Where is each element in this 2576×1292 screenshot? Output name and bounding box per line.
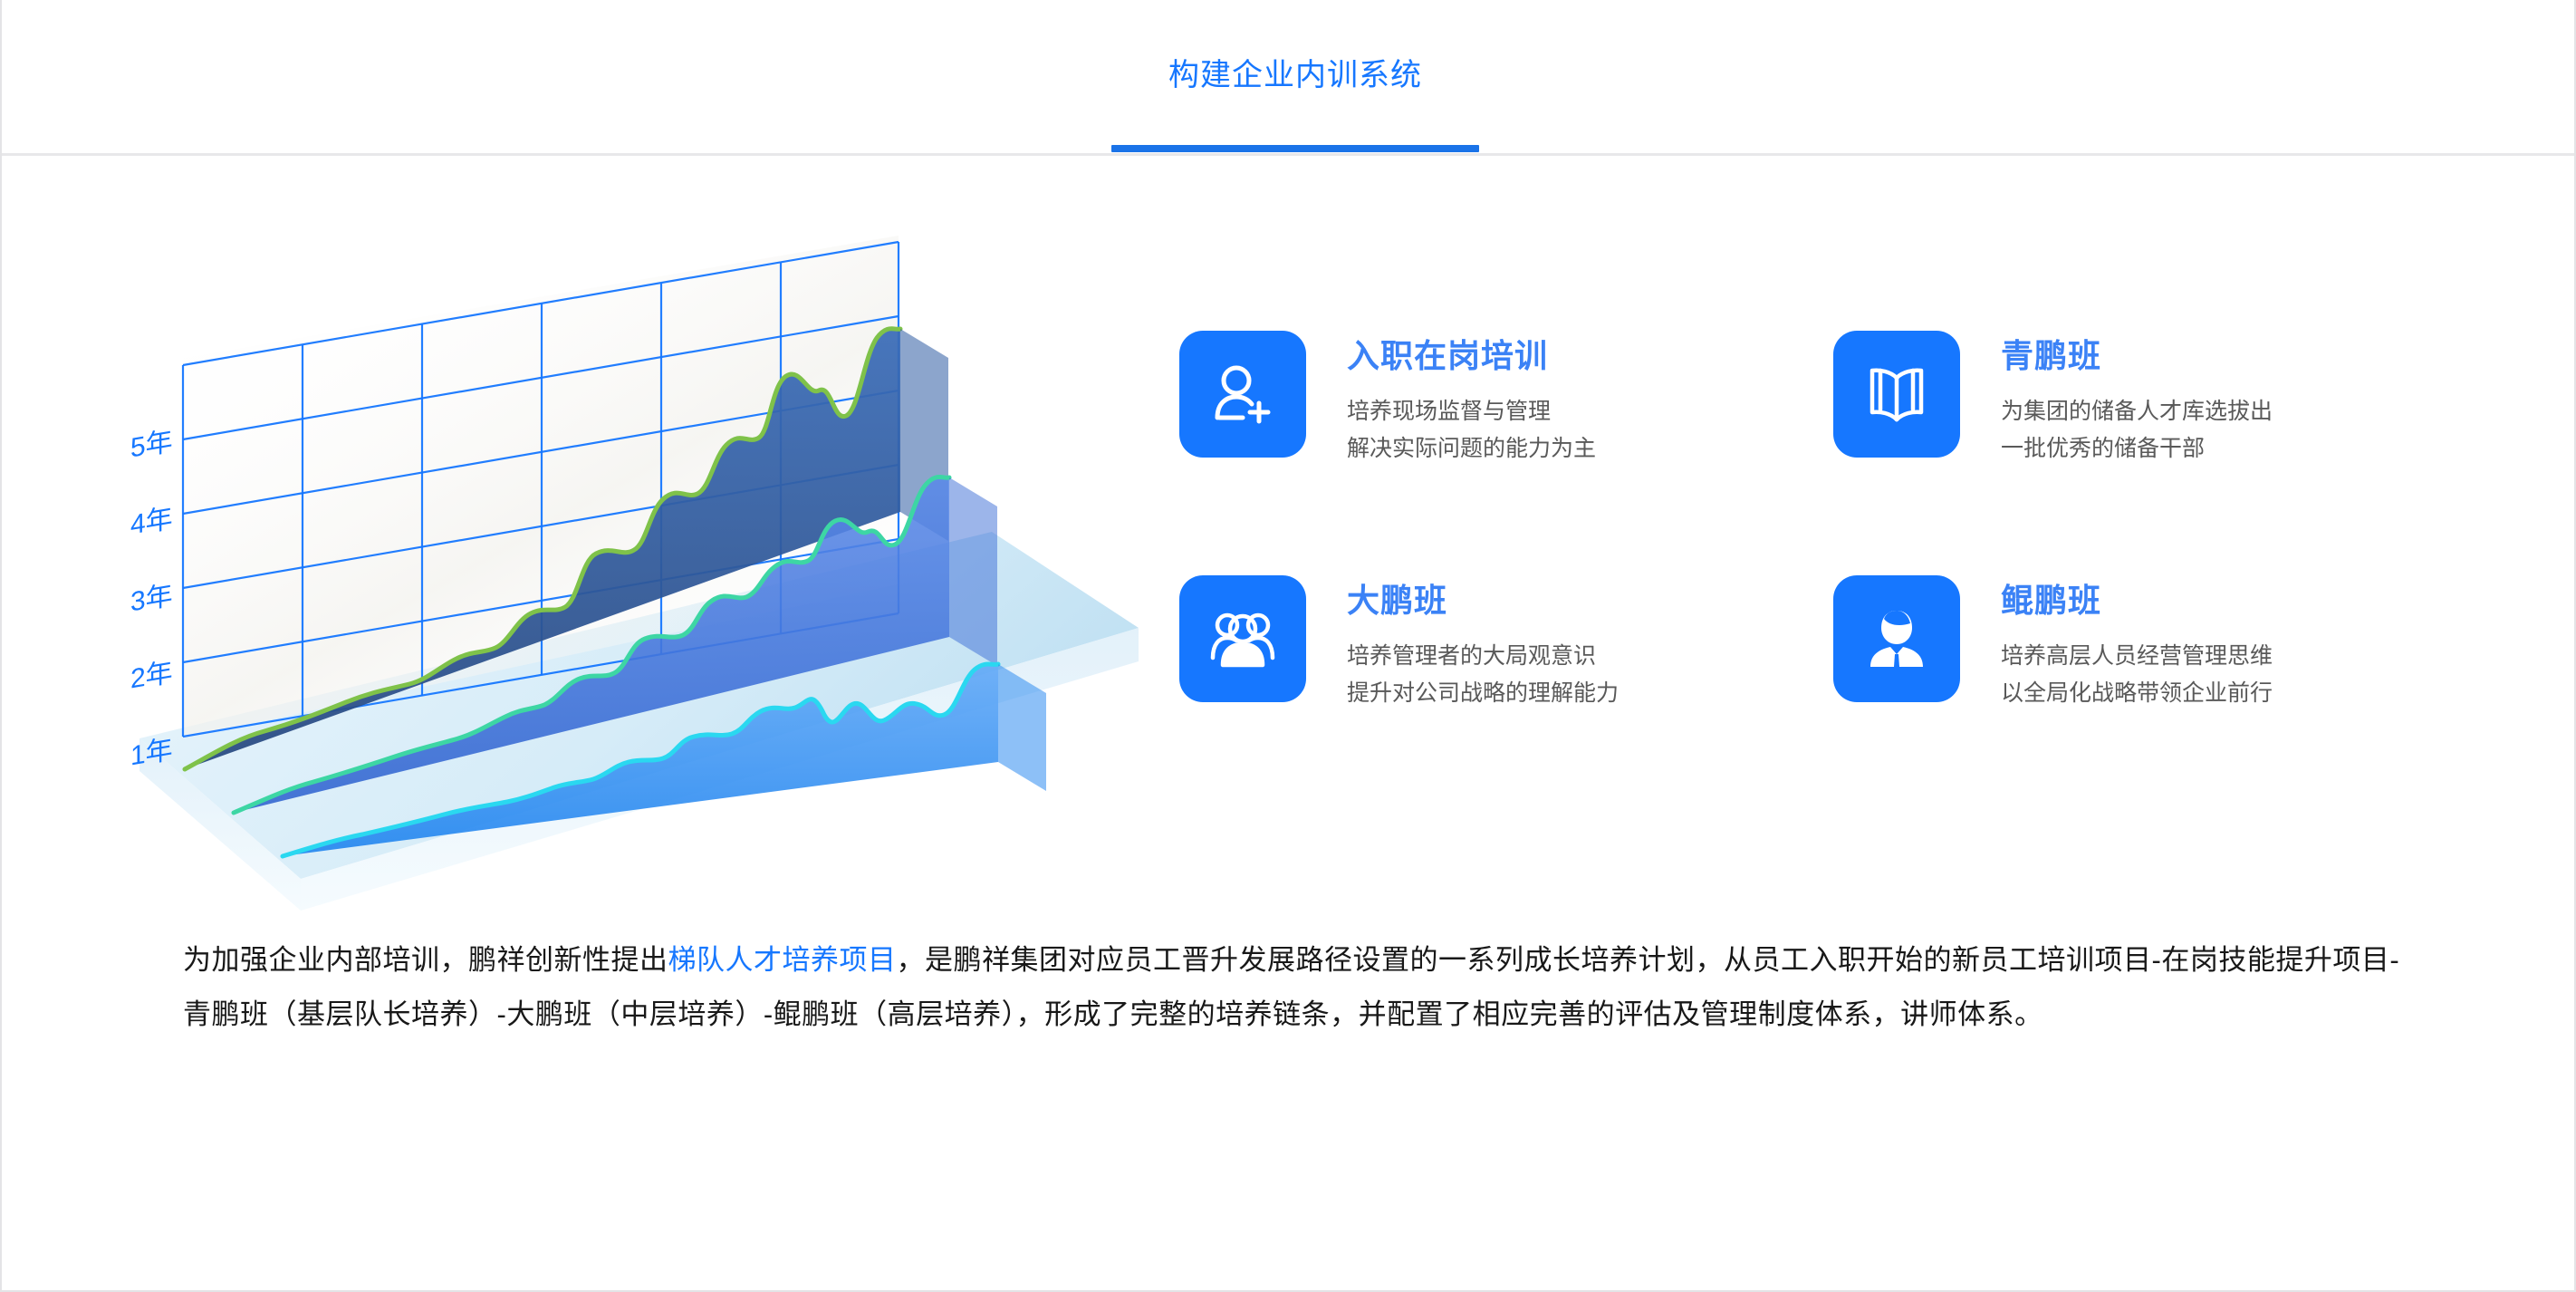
feature-card[interactable]: 入职在岗培训 培养现场监督与管理 解决实际问题的能力为主 <box>1179 331 1813 467</box>
y-tick-3: 3年 <box>130 580 173 618</box>
y-tick-4: 4年 <box>130 503 173 541</box>
feature-card-title: 大鹏班 <box>1347 581 1619 620</box>
feature-card-desc-line: 培养现场监督与管理 <box>1347 393 1596 430</box>
open-book-glyph <box>1860 358 1933 430</box>
chart-y-axis-labels: 5年 4年 3年 2年 1年 <box>130 426 173 772</box>
feature-card-body: 鲲鹏班 培养高层人员经营管理思维 以全局化战略带领企业前行 <box>2001 575 2273 711</box>
feature-card-title: 入职在岗培训 <box>1347 336 1596 375</box>
training-growth-chart: 5年 4年 3年 2年 1年 <box>129 195 1143 911</box>
description-paragraph: 为加强企业内部培训，鹏祥创新性提出梯队人才培养项目，是鹏祥集团对应员工晋升发展路… <box>183 933 2411 1043</box>
feature-card-desc: 培养现场监督与管理 解决实际问题的能力为主 <box>1347 393 1596 467</box>
user-add-glyph <box>1206 358 1279 430</box>
feature-card-desc-line: 以全局化战略带领企业前行 <box>2001 675 2273 712</box>
user-add-icon[interactable] <box>1179 331 1306 458</box>
feature-card-desc-line: 提升对公司战略的理解能力 <box>1347 675 1619 712</box>
feature-card-body: 入职在岗培训 培养现场监督与管理 解决实际问题的能力为主 <box>1347 331 1596 467</box>
feature-card-desc: 培养管理者的大局观意识 提升对公司战略的理解能力 <box>1347 638 1619 711</box>
businessman-icon[interactable] <box>1833 575 1960 702</box>
tab-bar: 构建企业内训系统 <box>2 0 2574 156</box>
feature-card[interactable]: 大鹏班 培养管理者的大局观意识 提升对公司战略的理解能力 <box>1179 575 1813 711</box>
feature-card-desc-line: 一批优秀的储备干部 <box>2001 430 2273 468</box>
feature-card-desc: 培养高层人员经营管理思维 以全局化战略带领企业前行 <box>2001 638 2273 711</box>
feature-card[interactable]: 鲲鹏班 培养高层人员经营管理思维 以全局化战略带领企业前行 <box>1833 575 2467 711</box>
feature-card-desc-line: 为集团的储备人才库选拔出 <box>2001 393 2273 430</box>
paragraph-highlight-link[interactable]: 梯队人才培养项目 <box>668 944 897 976</box>
feature-card-body: 青鹏班 为集团的储备人才库选拔出 一批优秀的储备干部 <box>2001 331 2273 467</box>
feature-card-desc-line: 培养高层人员经营管理思维 <box>2001 638 2273 675</box>
chart-svg: 5年 4年 3年 2年 1年 <box>129 195 1143 911</box>
feature-card-body: 大鹏班 培养管理者的大局观意识 提升对公司战略的理解能力 <box>1347 575 1619 711</box>
feature-card-grid: 入职在岗培训 培养现场监督与管理 解决实际问题的能力为主 青鹏班 <box>1179 322 2484 775</box>
tab-active-indicator <box>1111 145 1479 152</box>
feature-card[interactable]: 青鹏班 为集团的储备人才库选拔出 一批优秀的储备干部 <box>1833 331 2467 467</box>
y-tick-5: 5年 <box>130 426 173 464</box>
feature-card-desc: 为集团的储备人才库选拔出 一批优秀的储备干部 <box>2001 393 2273 467</box>
feature-card-title: 鲲鹏班 <box>2001 581 2273 620</box>
open-book-icon[interactable] <box>1833 331 1960 458</box>
businessman-glyph <box>1860 602 1934 676</box>
paragraph-part-1: 为加强企业内部培训，鹏祥创新性提出 <box>183 944 668 976</box>
feature-card-desc-line: 解决实际问题的能力为主 <box>1347 430 1596 468</box>
user-group-icon[interactable] <box>1179 575 1306 702</box>
feature-card-title: 青鹏班 <box>2001 336 2273 375</box>
tab-build-training-system[interactable]: 构建企业内训系统 <box>1111 0 1479 156</box>
tab-label: 构建企业内训系统 <box>1168 60 1422 96</box>
page-root: 构建企业内训系统 <box>0 0 2576 1292</box>
y-tick-2: 2年 <box>130 657 173 695</box>
user-group-glyph <box>1206 602 1280 676</box>
feature-card-desc-line: 培养管理者的大局观意识 <box>1347 638 1619 675</box>
